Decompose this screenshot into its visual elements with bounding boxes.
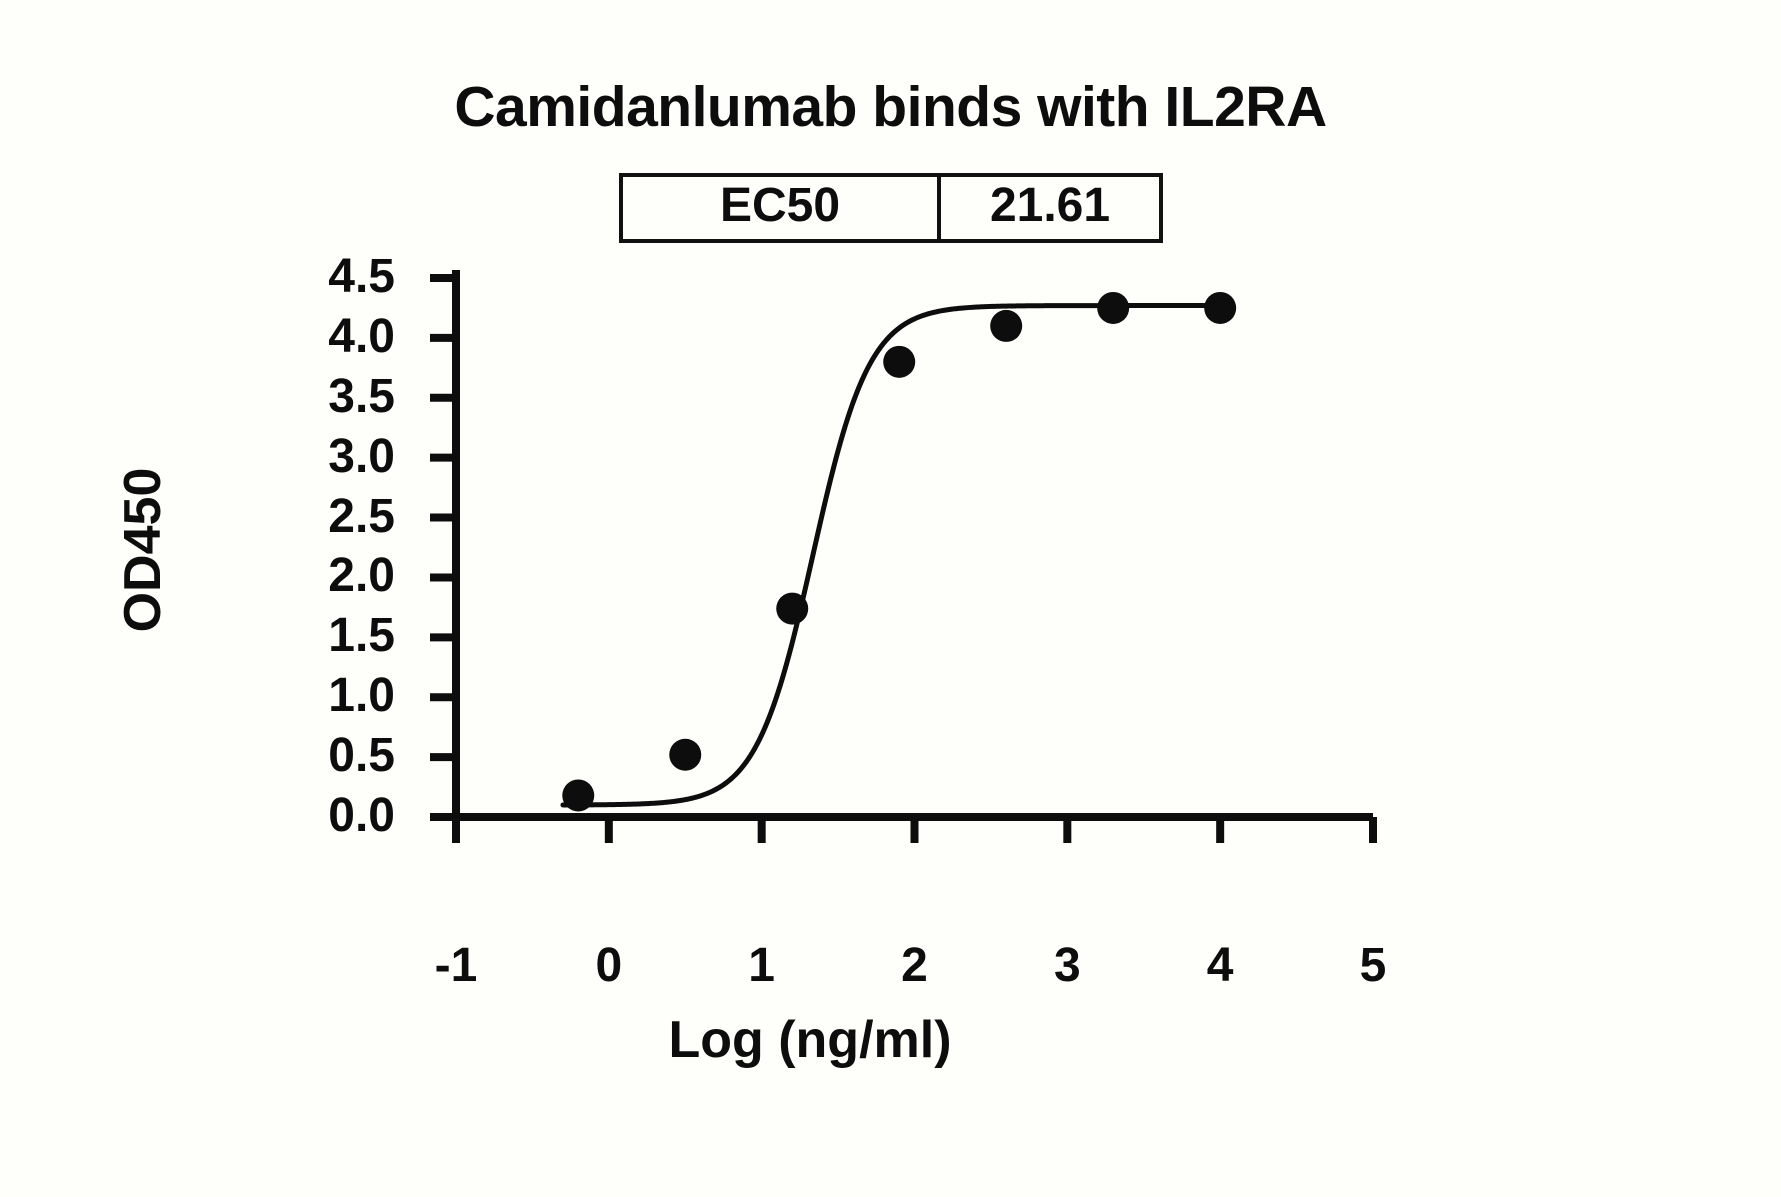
- figure-container: Camidanlumab binds with IL2RA EC50 21.61…: [0, 0, 1781, 1197]
- data-point: [1097, 292, 1129, 324]
- data-point: [776, 593, 808, 625]
- data-point: [990, 310, 1022, 342]
- data-points: [562, 292, 1236, 812]
- data-point: [883, 346, 915, 378]
- data-point: [562, 779, 594, 811]
- fit-curve: [563, 306, 1228, 805]
- plot-surface: [0, 0, 1781, 1197]
- data-point: [669, 739, 701, 771]
- data-point: [1204, 292, 1236, 324]
